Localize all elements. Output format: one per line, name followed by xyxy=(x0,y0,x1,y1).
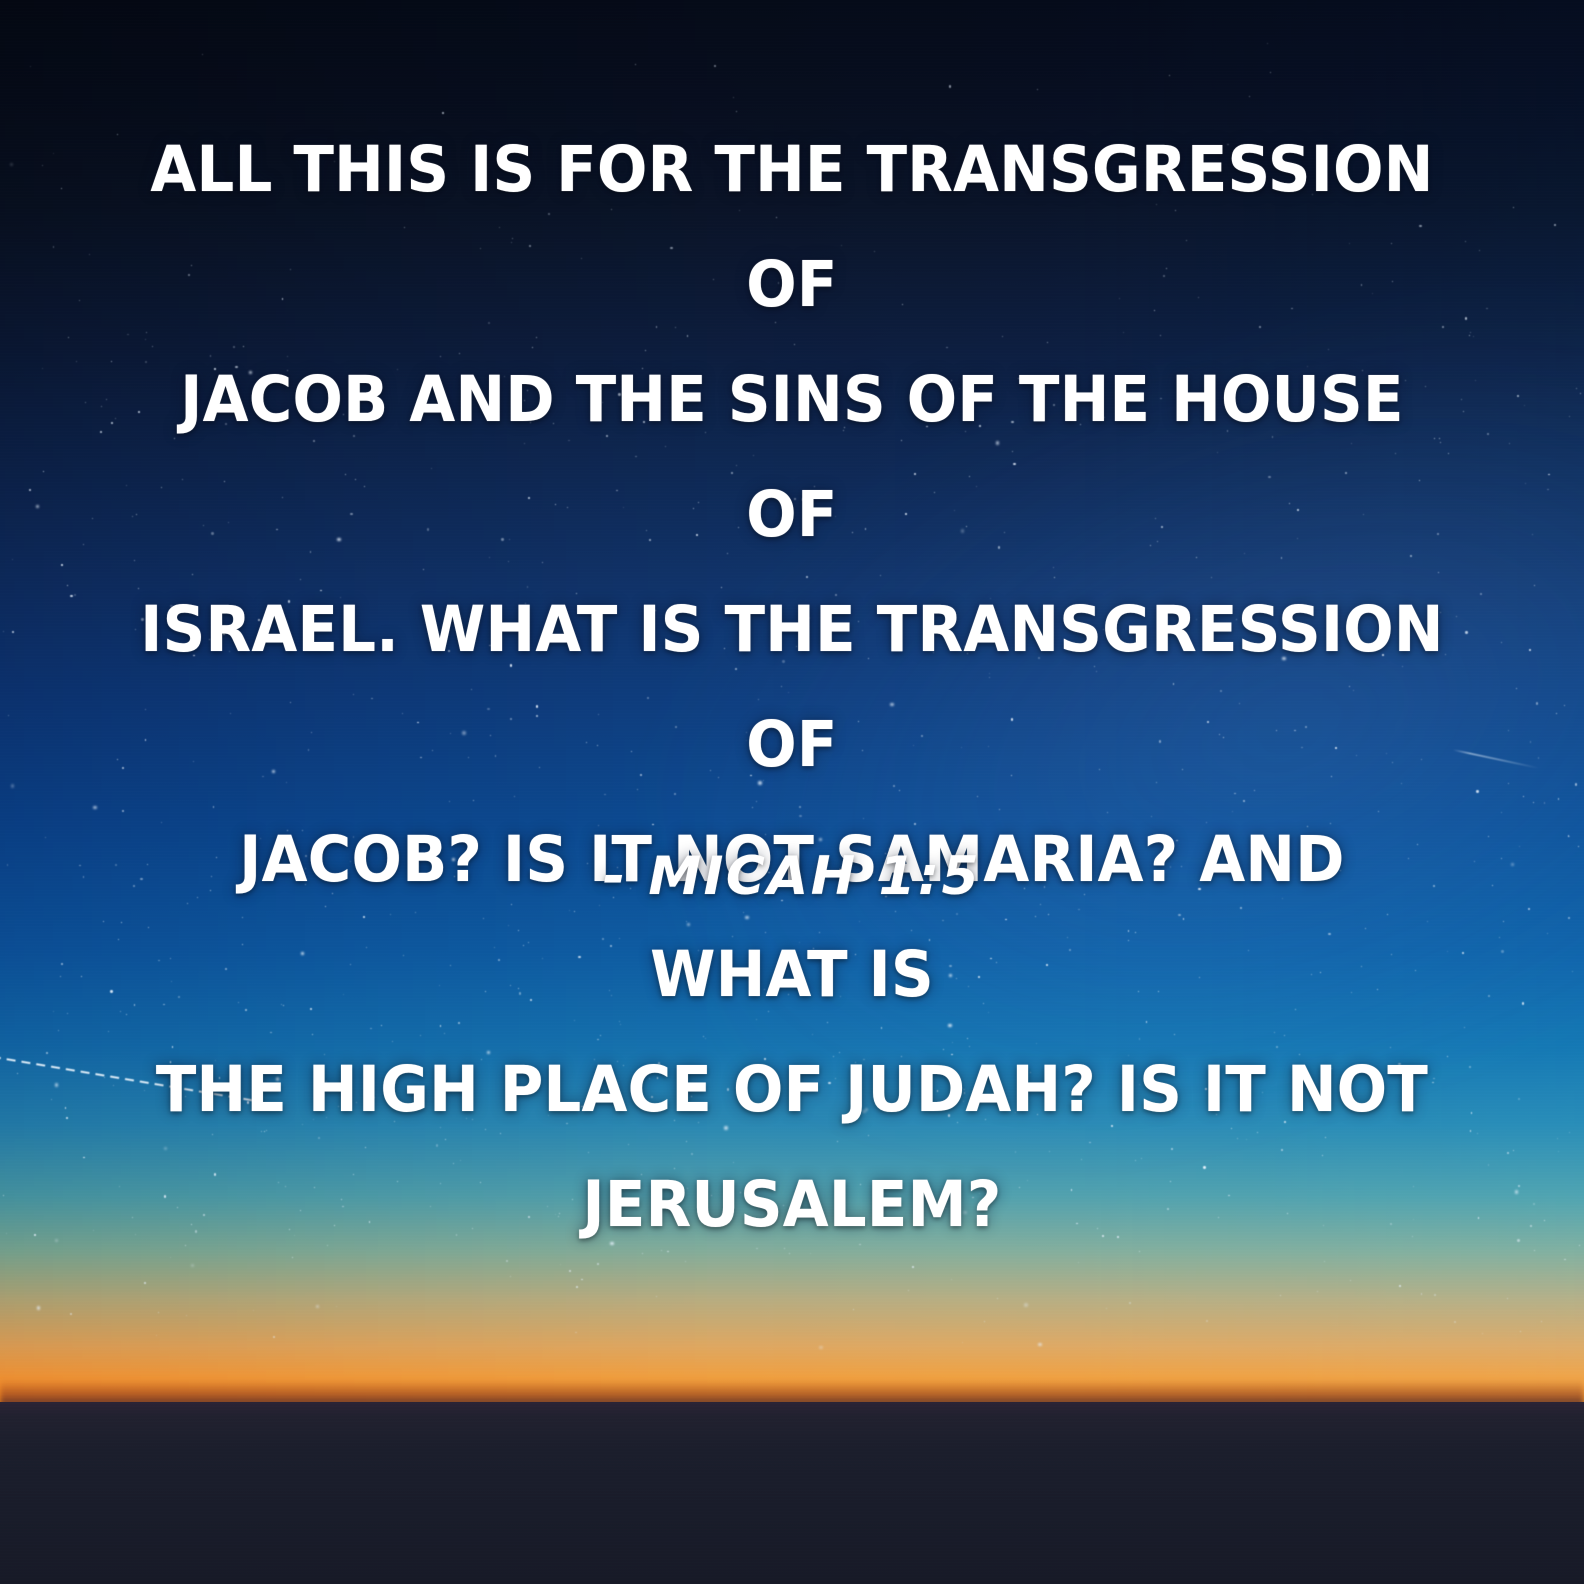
verse-text: ALL THIS IS FOR THE TRANSGRESSION OF JAC… xyxy=(138,112,1446,1262)
ground-band xyxy=(0,1402,1584,1584)
attribution: - MICAH 1:5 xyxy=(0,846,1584,907)
attribution-text: - MICAH 1:5 xyxy=(603,846,981,907)
quote-card: ALL THIS IS FOR THE TRANSGRESSION OF JAC… xyxy=(0,0,1584,1584)
verse-block: ALL THIS IS FOR THE TRANSGRESSION OF JAC… xyxy=(0,0,1584,1262)
